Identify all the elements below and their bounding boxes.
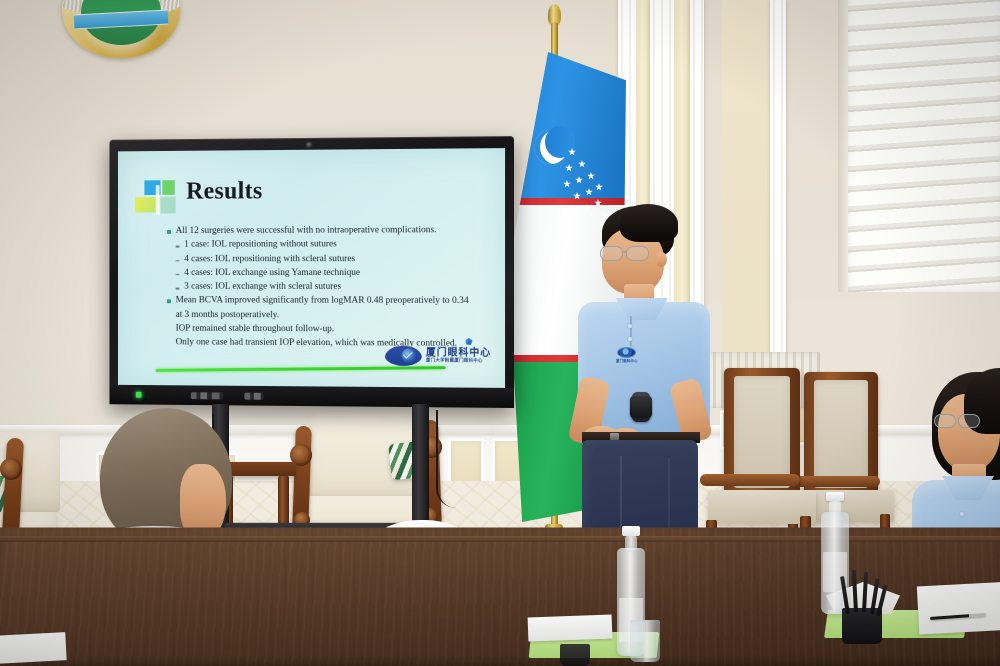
deco-square-green [162,180,174,195]
presenter-hair-top [620,204,678,242]
display-bezel [109,385,514,408]
bullet-text: 4 cases: IOL repositioning with scleral … [184,253,355,266]
bullet-marker-dash [176,246,180,247]
bullet-text: 3 cases: IOL exchange with scleral sutur… [184,281,341,294]
bullet-text: 1 case: IOL repositioning without suture… [184,239,337,252]
presentation-slide: Results All 12 surgeries were successful… [118,148,505,388]
bullet-marker-dash [176,260,180,261]
bullet-marker-none [167,342,171,346]
wall-pilaster [770,0,786,412]
slide-bullet-item: 4 cases: IOL exchange using Yamane techn… [167,267,497,280]
slide-bullet-item: at 3 months postoperatively. [167,309,497,323]
display-control-buttons[interactable] [191,392,223,399]
bullet-marker-dash [176,274,180,275]
notepaper [528,615,613,642]
slide-bullet-item: 3 cases: IOL exchange with scleral sutur… [167,281,497,294]
woman-eyeglasses-left [934,414,956,428]
deco-square-teal [160,197,175,214]
bullet-marker-none [167,314,171,318]
polo-logo-text: 厦门眼科中心 [616,358,638,363]
woman-eyeglasses-right [958,414,980,428]
bullet-text: at 3 months postoperatively. [176,309,279,322]
bullet-text: 4 cases: IOL exchange using Yamane techn… [184,267,360,280]
display-camera-icon [306,142,313,149]
slide-title: Results [186,178,262,206]
bullet-text: IOP remained stable throughout follow-up… [176,323,335,336]
bullet-marker-square [167,230,171,234]
slide-bullet-item: IOP remained stable throughout follow-up… [167,323,497,337]
presenter-ear [656,252,667,267]
eye-logo-icon [618,348,635,357]
conference-room-scene: 厦门眼科中心 [0,0,1000,666]
slide-bullet-item: 4 cases: IOL repositioning with scleral … [167,253,497,266]
polo-button [628,324,632,328]
polo-button [628,337,632,341]
blinds-edge [838,0,848,292]
wristwatch-band [632,392,650,422]
slide-footer-logo: 厦门眼科中心 厦门大学附属厦门眼科中心 [385,345,491,367]
notepaper [0,632,67,664]
eyeglasses-lens-left [600,246,623,261]
bullet-text: All 12 surgeries were successful with no… [176,224,437,237]
slide-bullet-item: 1 case: IOL repositioning without suture… [167,238,497,251]
slide-bullet-item: Mean BCVA improved significantly from lo… [167,295,497,308]
notepaper [917,582,1000,635]
slide-logo-text: 厦门眼科中心 厦门大学附属厦门眼科中心 [426,348,491,364]
eye-logo-icon [385,345,422,366]
polo-placket [630,316,632,346]
belt-buckle [610,433,619,440]
eyeglasses-lens-right [626,246,649,261]
polo-button [960,512,964,516]
bullet-marker-none [167,328,171,332]
display-screen: Results All 12 surgeries were successful… [118,148,505,388]
power-led-icon [136,392,142,398]
slide-bullet-list: All 12 surgeries were successful with no… [167,224,497,353]
display-cable [436,410,456,508]
display-control-buttons[interactable] [244,393,263,400]
slide-bullet-item: All 12 surgeries were successful with no… [167,224,497,238]
deco-divider [156,185,160,214]
bullet-marker-dash [176,288,180,289]
slide-accent-line [156,366,446,372]
polo-chest-logo: 厦门眼科中心 [616,348,638,363]
bullet-text: Mean BCVA improved significantly from lo… [176,295,469,308]
flag-trim-red [508,198,626,205]
slide-title-decoration [135,180,179,219]
bullet-marker-square [167,300,171,304]
pencil-holder[interactable] [560,644,590,666]
slide-logo-subtitle: 厦门大学附属厦门眼科中心 [426,359,491,364]
presentation-display[interactable]: Results All 12 surgeries were successful… [109,136,514,408]
drinking-glass[interactable] [630,620,660,662]
eyeglasses-bridge [623,251,627,253]
window-blinds[interactable] [846,0,1000,292]
